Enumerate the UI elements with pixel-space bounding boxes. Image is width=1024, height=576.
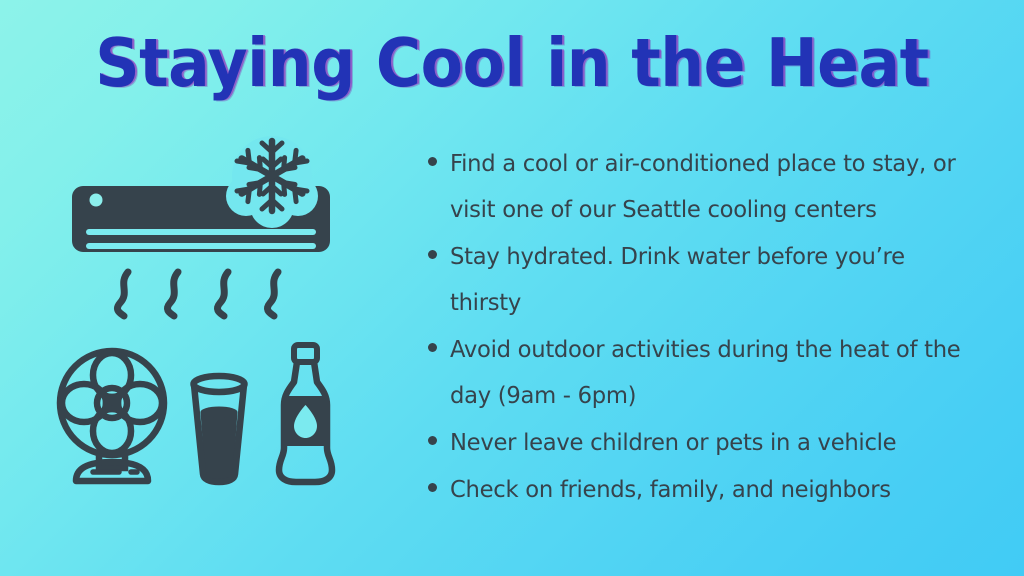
snowflake-icon — [226, 136, 318, 228]
tip-text: Never leave children or pets in a vehicl… — [450, 419, 969, 465]
electric-fan-icon — [60, 351, 164, 481]
water-bottle-icon — [279, 345, 332, 482]
illustration-group — [0, 0, 420, 576]
illustration-svg — [0, 0, 420, 576]
list-item: Never leave children or pets in a vehicl… — [428, 419, 988, 465]
list-item: Stay hydrated. Drink water before you’re… — [428, 233, 988, 325]
tips-list: Find a cool or air-conditioned place to … — [428, 140, 988, 513]
tip-text: Stay hydrated. Drink water before you’re… — [450, 233, 969, 325]
list-item: Find a cool or air-conditioned place to … — [428, 140, 988, 232]
tip-text: Check on friends, family, and neighbors — [450, 466, 969, 512]
airflow-waves-icon — [117, 272, 278, 316]
ac-indicator-light-icon — [90, 194, 103, 207]
tip-text: Avoid outdoor activities during the heat… — [450, 326, 969, 418]
tip-text: Find a cool or air-conditioned place to … — [450, 140, 969, 232]
bullet-dot-icon — [428, 436, 437, 445]
bullet-dot-icon — [428, 250, 437, 259]
bullet-dot-icon — [428, 483, 437, 492]
water-glass-icon — [194, 376, 245, 482]
poster-canvas: Staying Cool in the Heat — [0, 0, 1024, 576]
list-item: Check on friends, family, and neighbors — [428, 466, 988, 512]
bullet-dot-icon — [428, 343, 437, 352]
list-item: Avoid outdoor activities during the heat… — [428, 326, 988, 418]
bullet-dot-icon — [428, 157, 437, 166]
